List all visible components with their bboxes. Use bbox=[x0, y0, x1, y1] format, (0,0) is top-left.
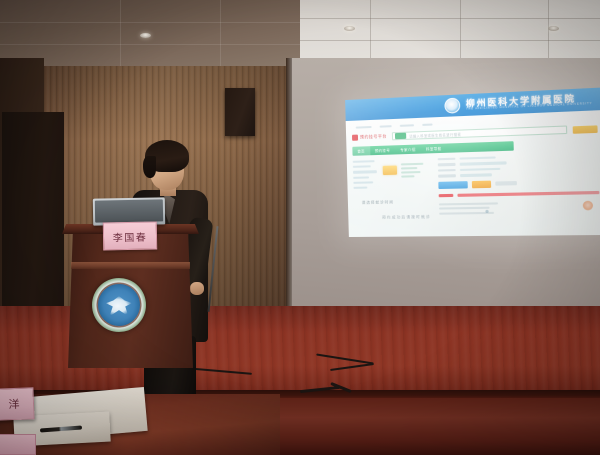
ceiling-light bbox=[548, 26, 559, 31]
reset-button[interactable] bbox=[495, 181, 517, 186]
warning-tag bbox=[439, 193, 454, 196]
podium-nameplate: 李国春 bbox=[103, 222, 157, 251]
nav-item-appointment[interactable]: 预约挂号 bbox=[370, 147, 395, 153]
laptop-screen-back bbox=[95, 199, 163, 222]
form-label bbox=[438, 158, 456, 161]
confirm-appointment-button[interactable] bbox=[438, 181, 467, 189]
hospital-seal-logo bbox=[444, 98, 460, 114]
ceiling-light bbox=[344, 26, 355, 31]
podium-trim-band bbox=[71, 262, 190, 269]
nav-item-home[interactable]: 首页 bbox=[352, 146, 370, 156]
back-button[interactable] bbox=[472, 180, 491, 188]
portal-brand: 预约挂号平台 bbox=[352, 133, 387, 140]
tiled-ceiling-panel bbox=[300, 0, 600, 62]
portal-footer bbox=[439, 200, 600, 215]
form-value[interactable] bbox=[460, 162, 507, 166]
podium-nameplate-text: 李国春 bbox=[113, 228, 148, 244]
search-category-select[interactable] bbox=[395, 133, 406, 140]
form-label bbox=[438, 174, 456, 177]
right-panel bbox=[438, 153, 600, 215]
conference-hall-photo: 柳州医科大学附属医院 THE AFFILIATED HOSPITAL OF LI… bbox=[0, 0, 600, 455]
presenter-hair bbox=[145, 140, 189, 172]
wood-ceiling-panel bbox=[0, 0, 300, 68]
appointment-ticket-card[interactable] bbox=[383, 166, 397, 176]
ceiling-light bbox=[140, 33, 151, 38]
form-value[interactable] bbox=[460, 173, 492, 176]
portal-nav: 首页 预约挂号 专家介绍 科室导航 bbox=[352, 141, 513, 156]
form-label bbox=[438, 163, 456, 166]
note-secondary: 预约成功后请按时就诊 bbox=[382, 215, 431, 221]
nav-item-departments[interactable]: 科室导航 bbox=[421, 146, 447, 152]
wall-corner bbox=[286, 58, 292, 310]
form-row bbox=[438, 171, 599, 178]
wall-speaker bbox=[225, 88, 255, 136]
foreground-nameplate: 洋 bbox=[0, 387, 35, 420]
portal-content: 请选择就诊时间 预约成功后请按时就诊 bbox=[353, 153, 600, 216]
nav-item-experts[interactable]: 专家介绍 bbox=[395, 146, 421, 152]
form-value[interactable] bbox=[460, 168, 500, 172]
hospital-emblem bbox=[92, 278, 146, 332]
presenter-hand bbox=[190, 282, 204, 295]
form-label bbox=[438, 169, 456, 172]
foreground-nameplate-text: 洋 bbox=[8, 396, 20, 412]
brand-text: 预约挂号平台 bbox=[360, 133, 387, 140]
foreground-nameplate-secondary bbox=[0, 434, 36, 455]
warning-text bbox=[457, 190, 599, 196]
left-panel: 请选择就诊时间 预约成功后请按时就诊 bbox=[353, 158, 433, 216]
search-button[interactable] bbox=[573, 125, 598, 133]
form-value[interactable] bbox=[460, 156, 496, 160]
brand-mark-icon bbox=[352, 135, 358, 141]
projected-screen: 柳州医科大学附属医院 THE AFFILIATED HOSPITAL OF LI… bbox=[345, 87, 600, 237]
search-placeholder: 请输入科室或医生姓名进行搜索 bbox=[409, 131, 461, 138]
warning-row bbox=[439, 190, 600, 196]
action-button-row bbox=[438, 178, 599, 189]
ticket-detail-lines bbox=[401, 163, 426, 178]
note-primary: 请选择就诊时间 bbox=[362, 200, 394, 206]
search-input[interactable]: 请输入科室或医生姓名进行搜索 bbox=[392, 125, 567, 140]
portal-body: 预约挂号平台 请输入科室或医生姓名进行搜索 首页 预约挂号 专家介绍 科室导航 bbox=[346, 110, 600, 237]
